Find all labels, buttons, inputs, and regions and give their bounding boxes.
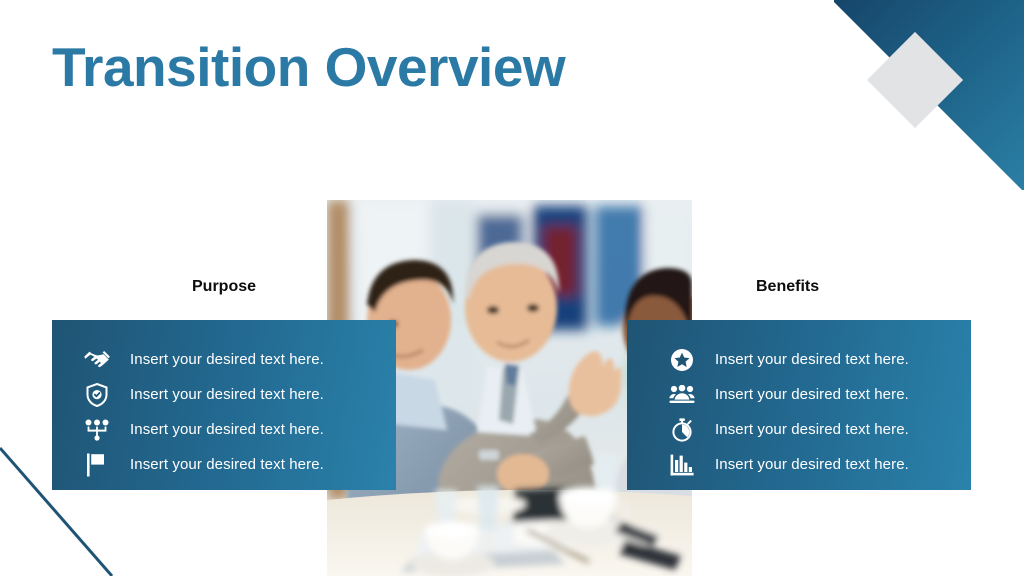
list-item-text: Insert your desired text here.: [130, 351, 324, 368]
list-item[interactable]: Insert your desired text here.: [52, 412, 396, 447]
list-item[interactable]: Insert your desired text here.: [52, 342, 396, 377]
list-item-text: Insert your desired text here.: [130, 386, 324, 403]
list-item[interactable]: Insert your desired text here.: [627, 412, 971, 447]
list-item[interactable]: Insert your desired text here.: [52, 377, 396, 412]
gray-diamond: [867, 32, 963, 128]
stopwatch-icon: [669, 418, 695, 442]
flag-icon: [84, 453, 110, 477]
list-item-text: Insert your desired text here.: [130, 421, 324, 438]
list-item-text: Insert your desired text here.: [715, 351, 909, 368]
list-item-text: Insert your desired text here.: [715, 456, 909, 473]
list-item[interactable]: Insert your desired text here.: [627, 342, 971, 377]
shield-check-icon: [84, 383, 110, 407]
star-circle-icon: [669, 348, 695, 372]
benefits-panel: Insert your desired text here. Insert yo…: [627, 320, 971, 490]
top-right-triangle: [834, 0, 1024, 190]
bar-chart-icon: [669, 453, 695, 477]
top-right-decoration: [834, 0, 1024, 190]
list-item-text: Insert your desired text here.: [715, 386, 909, 403]
purpose-panel: Insert your desired text here. Insert yo…: [52, 320, 396, 490]
handshake-icon: [84, 348, 110, 372]
list-item-text: Insert your desired text here.: [130, 456, 324, 473]
column-heading-purpose: Purpose: [192, 278, 256, 296]
list-item-text: Insert your desired text here.: [715, 421, 909, 438]
org-chart-icon: [84, 418, 110, 442]
column-heading-benefits: Benefits: [756, 278, 819, 296]
list-item[interactable]: Insert your desired text here.: [627, 447, 971, 482]
people-group-icon: [669, 383, 695, 407]
page-title: Transition Overview: [52, 35, 565, 99]
slide-canvas: Transition Overview: [0, 0, 1024, 576]
list-item[interactable]: Insert your desired text here.: [52, 447, 396, 482]
list-item[interactable]: Insert your desired text here.: [627, 377, 971, 412]
